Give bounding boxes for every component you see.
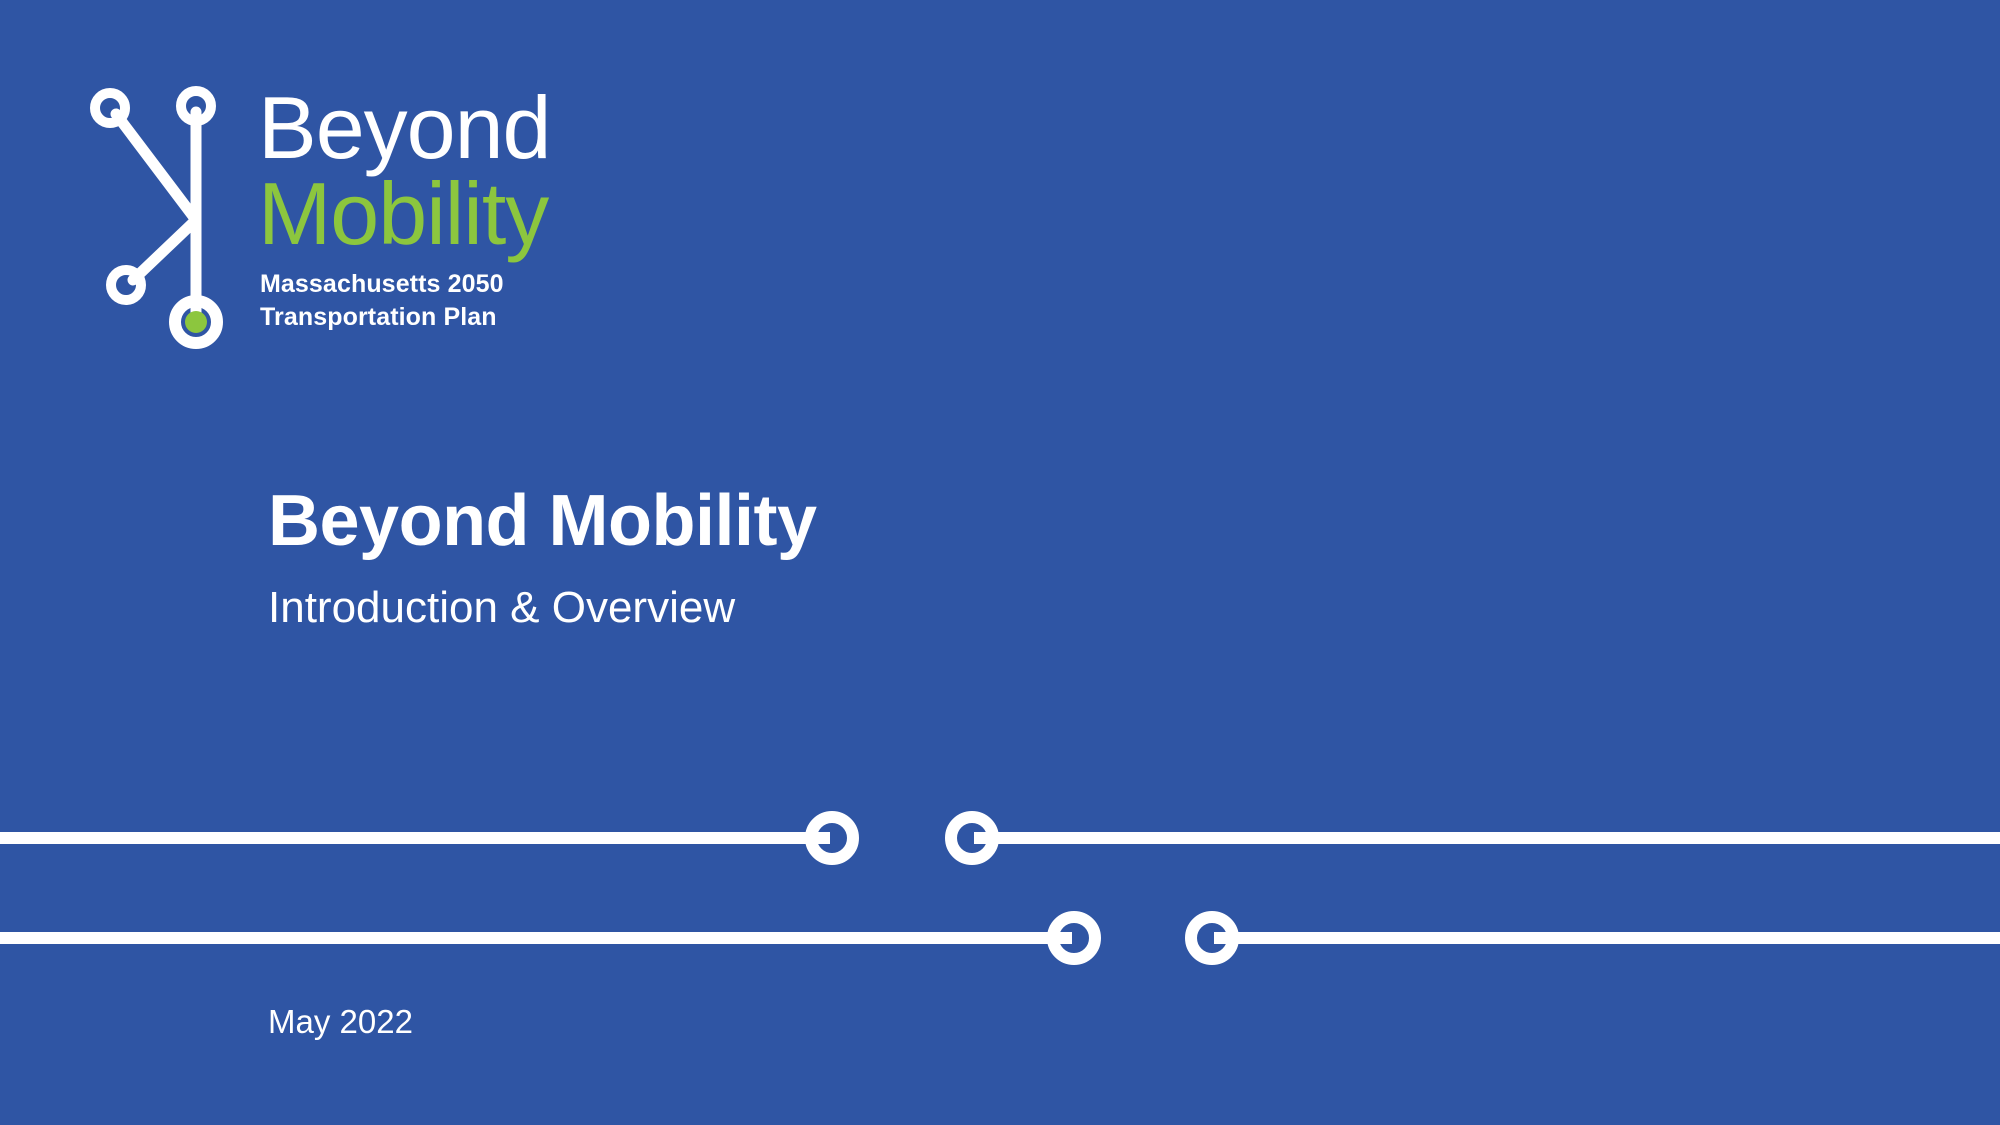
logo-tagline-line-2: Transportation Plan [260,301,504,334]
deco-line-1-right-node [951,817,993,859]
logo-tagline: Massachusetts 2050 Transportation Plan [260,268,504,334]
logo-wordmark: Beyond Mobility Massachusetts 2050 Trans… [258,72,668,372]
deco-line-2-right-node [1191,917,1233,959]
logo-word-beyond: Beyond [258,84,550,172]
page-subtitle: Introduction & Overview [268,580,1468,636]
slide-date: May 2022 [268,1002,413,1042]
presentation-title-slide: Beyond Mobility Massachusetts 2050 Trans… [0,0,2000,1125]
logo-word-mobility: Mobility [258,170,548,258]
deco-line-1-left-node [811,817,853,859]
logo-tagline-line-1: Massachusetts 2050 [260,268,504,301]
beyond-mobility-logo: Beyond Mobility Massachusetts 2050 Trans… [88,72,668,382]
page-title: Beyond Mobility [268,480,1468,562]
title-block: Beyond Mobility Introduction & Overview [268,480,1468,636]
deco-line-2-left-node [1053,917,1095,959]
network-mark-icon [88,72,248,372]
